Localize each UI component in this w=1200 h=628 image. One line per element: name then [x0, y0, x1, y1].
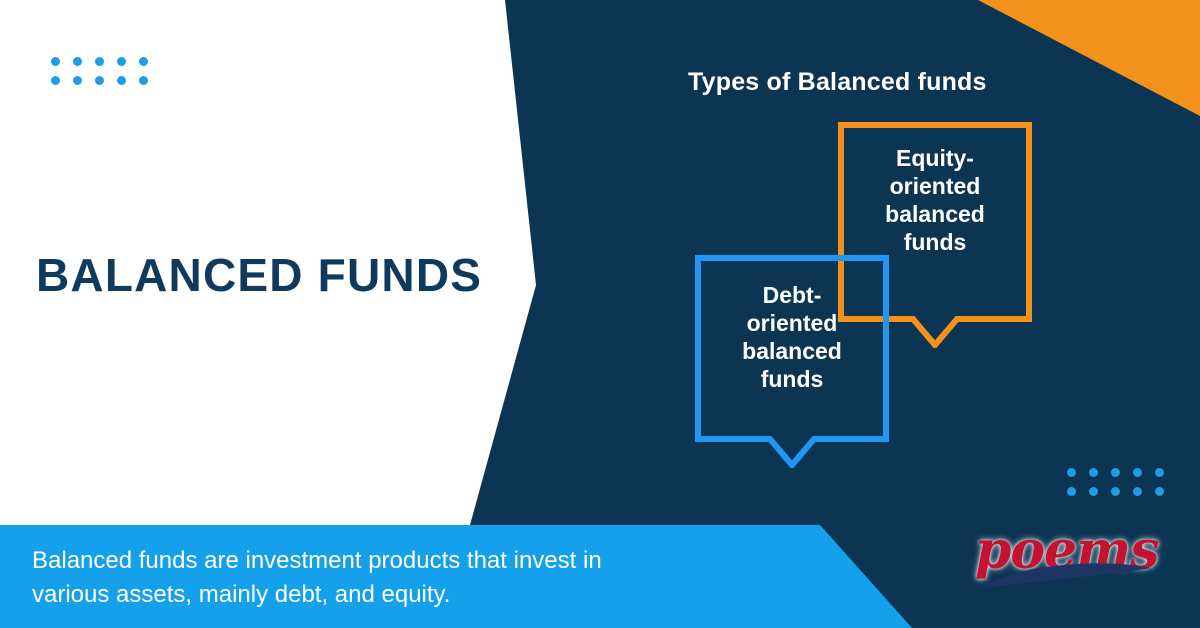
dot [1067, 487, 1076, 496]
dot [95, 76, 104, 85]
dot [1133, 468, 1142, 477]
banner-line-1: Balanced funds are investment products t… [32, 547, 602, 574]
dot [117, 57, 126, 66]
dot [51, 57, 60, 66]
bubble-equity-label: Equity- oriented balanced funds [838, 144, 1032, 256]
dot [73, 57, 82, 66]
dot [139, 57, 148, 66]
dot [139, 76, 148, 85]
poems-swoosh-icon [975, 522, 1155, 600]
banner-description: Balanced funds are investment products t… [32, 544, 807, 612]
dot-grid-top-left [44, 52, 154, 90]
bubble-debt-oriented: Debt- oriented balanced funds [695, 255, 889, 468]
page-title: BALANCED FUNDS [36, 252, 482, 298]
dot [1111, 468, 1120, 477]
dot [1089, 468, 1098, 477]
dot [1155, 468, 1164, 477]
banner-line-2: various assets, mainly debt, and equity. [32, 578, 807, 612]
dot [1111, 487, 1120, 496]
dot [51, 76, 60, 85]
dot-grid-bottom-right [1060, 463, 1170, 501]
dot [117, 76, 126, 85]
dot [1089, 487, 1098, 496]
bubble-debt-label: Debt- oriented balanced funds [695, 281, 889, 393]
dot [73, 76, 82, 85]
dot [1133, 487, 1142, 496]
dot [95, 57, 104, 66]
section-heading: Types of Balanced funds [688, 68, 987, 97]
dot [1067, 468, 1076, 477]
dot [1155, 487, 1164, 496]
infographic-canvas: BALANCED FUNDS Types of Balanced funds E… [0, 0, 1200, 628]
poems-logo: poems [975, 522, 1155, 600]
